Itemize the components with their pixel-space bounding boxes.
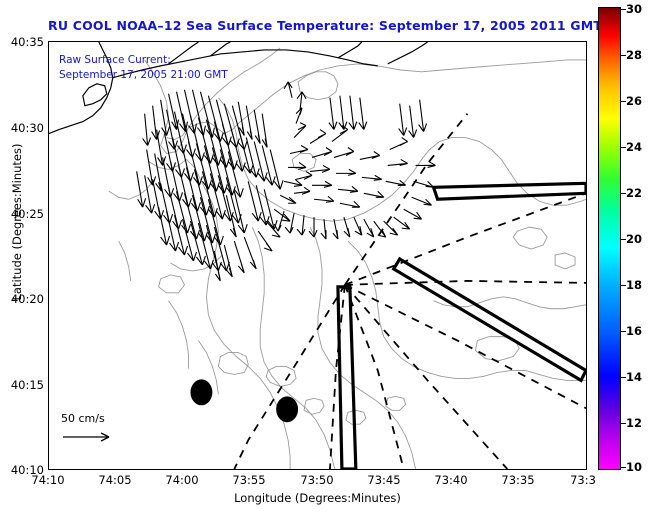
x-tick-label: 73:40 (421, 473, 481, 487)
y-axis-label: Latitude (Degrees:Minutes) (10, 142, 24, 302)
station-marker-west (190, 379, 212, 405)
vector-scale-label: 50 cm/s (61, 412, 105, 425)
x-tick-label: 74:10 (18, 473, 78, 487)
surface-current-vectors (137, 82, 436, 281)
colorbar[interactable] (598, 7, 621, 470)
x-tick-label: 73:35 (488, 473, 548, 487)
colorbar-tick-label: 10 (626, 460, 642, 474)
y-tick-label: 40:30 (0, 121, 44, 135)
x-tick-label: 74:05 (85, 473, 145, 487)
radar-beam-wedges (338, 183, 586, 469)
colorbar-tick-label: 24 (626, 140, 642, 154)
right-arrow-icon (61, 430, 121, 444)
annotation-line-2: September 17, 2005 21:00 GMT (59, 69, 228, 81)
x-tick-label: 73:3 (553, 473, 613, 487)
sst-figure: RU COOL NOAA–12 Sea Surface Temperature:… (0, 0, 651, 518)
x-tick-label: 73:45 (354, 473, 414, 487)
annotation-line-1: Raw Surface Current: (59, 54, 171, 66)
x-tick-label: 73:50 (287, 473, 347, 487)
x-axis-label: Longitude (Degrees:Minutes) (48, 491, 587, 505)
figure-title: RU COOL NOAA–12 Sea Surface Temperature:… (48, 18, 588, 33)
colorbar-tick-label: 18 (626, 278, 642, 292)
colorbar-tick-label: 14 (626, 370, 642, 384)
map-canvas (49, 42, 586, 469)
colorbar-tick-label: 26 (626, 94, 642, 108)
colorbar-tick-label: 20 (626, 232, 642, 246)
colorbar-tick-label: 12 (626, 416, 642, 430)
colorbar-tick-label: 22 (626, 186, 642, 200)
colorbar-gradient (599, 8, 620, 469)
colorbar-tick-label: 16 (626, 324, 642, 338)
y-tick-label: 40:15 (0, 378, 44, 392)
map-plot-area[interactable]: Raw Surface Current: September 17, 2005 … (48, 41, 587, 470)
colorbar-tick-label: 30 (626, 2, 642, 16)
colorbar-tick-label: 28 (626, 48, 642, 62)
x-tick-label: 74:00 (152, 473, 212, 487)
station-marker-east (276, 396, 298, 422)
x-tick-label: 73:55 (219, 473, 279, 487)
y-tick-label: 40:35 (0, 35, 44, 49)
